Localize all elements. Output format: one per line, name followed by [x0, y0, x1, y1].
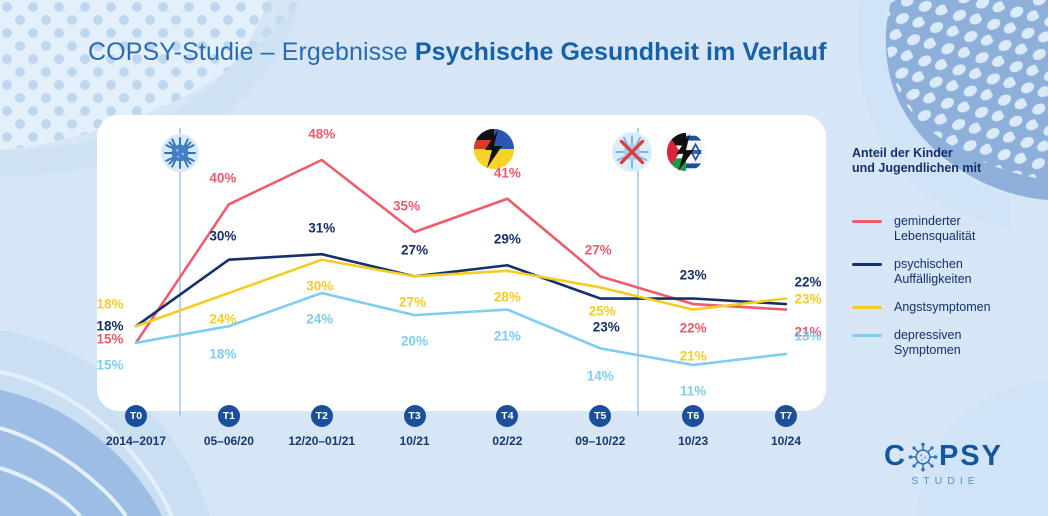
x-axis-marker-t0[interactable]: T0: [125, 405, 147, 427]
x-axis-label-t0: 2014–2017: [106, 434, 166, 448]
page-title-light: COPSY-Studie – Ergebnisse: [88, 38, 415, 66]
legend-label-line1: geminderter: [894, 214, 975, 229]
data-label-blue-T1: 18%: [209, 347, 236, 362]
data-label-navy-T3: 27%: [401, 243, 428, 258]
logo-subtitle: STUDIE: [888, 475, 1003, 487]
data-label-yellow-T0: 18%: [96, 297, 123, 312]
legend-label-line2: Symptomen: [894, 343, 961, 358]
data-label-navy-T5: 23%: [593, 319, 620, 334]
legend-items: geminderterLebensqualitätpsychischenAuff…: [852, 214, 1032, 358]
chart-legend: Anteil der Kinder und Jugendlichen mit g…: [852, 146, 1032, 371]
data-label-yellow-T4: 28%: [494, 289, 521, 304]
data-label-yellow-T6: 21%: [680, 348, 707, 363]
pandemic-end-icon: [611, 131, 653, 173]
data-label-navy-T4: 29%: [494, 232, 521, 247]
legend-label-line1: psychischen: [894, 257, 972, 272]
data-label-yellow-T2: 30%: [306, 278, 333, 293]
logo-virus-icon: [908, 442, 938, 472]
legend-label-line2: Lebensqualität: [894, 229, 975, 244]
legend-title: Anteil der Kinder und Jugendlichen mit: [852, 146, 1032, 176]
x-axis-label-t2: 12/20–01/21: [288, 434, 355, 448]
legend-item-3[interactable]: depressivenSymptomen: [852, 328, 1032, 358]
data-label-yellow-T7: 23%: [794, 291, 821, 306]
data-label-yellow-T3: 27%: [399, 295, 426, 310]
legend-title-line1: Anteil der Kinder: [852, 146, 1032, 161]
x-axis-marker-t3[interactable]: T3: [404, 405, 426, 427]
data-label-red-T1: 40%: [209, 171, 236, 186]
legend-title-line2: und Jugendlichen mit: [852, 161, 1032, 176]
x-axis-label-t5: 09–10/22: [575, 434, 625, 448]
data-label-yellow-T5: 25%: [589, 304, 616, 319]
x-axis-marker-t2[interactable]: T2: [311, 405, 333, 427]
data-label-red-T6: 22%: [680, 321, 707, 336]
page-title: COPSY-Studie – Ergebnisse Psychische Ges…: [88, 38, 827, 67]
legend-swatch-1: [852, 263, 882, 266]
x-axis-label-t6: 10/23: [678, 434, 708, 448]
legend-label-line1: Angstsymptomen: [894, 300, 991, 315]
legend-swatch-2: [852, 306, 882, 309]
data-label-navy-T2: 31%: [308, 221, 335, 236]
chart-card: [97, 115, 826, 411]
x-axis-label-t3: 10/21: [400, 434, 430, 448]
legend-item-2[interactable]: Angstsymptomen: [852, 300, 1032, 315]
legend-label-0: geminderterLebensqualität: [894, 214, 975, 244]
data-label-blue-T6: 11%: [680, 384, 706, 399]
x-axis-label-t4: 02/22: [492, 434, 522, 448]
data-label-navy-T0: 18%: [96, 319, 123, 334]
legend-swatch-0: [852, 220, 882, 223]
data-label-blue-T7: 13%: [794, 328, 821, 343]
data-label-blue-T4: 21%: [494, 328, 521, 343]
data-label-blue-T2: 24%: [306, 311, 333, 326]
data-label-blue-T5: 14%: [587, 369, 614, 384]
data-label-red-T3: 35%: [393, 199, 420, 214]
legend-label-3: depressivenSymptomen: [894, 328, 961, 358]
copsy-wordmark: C PSY: [884, 440, 1003, 473]
x-axis-marker-t7[interactable]: T7: [775, 405, 797, 427]
legend-swatch-3: [852, 334, 882, 337]
x-axis-label-t1: 05–06/20: [204, 434, 254, 448]
data-label-navy-T7: 22%: [794, 275, 821, 290]
data-label-navy-T1: 30%: [209, 228, 236, 243]
data-label-blue-T0: 15%: [96, 357, 123, 372]
data-label-red-T2: 48%: [308, 127, 335, 142]
legend-label-line2: Auffälligkeiten: [894, 272, 972, 287]
legend-item-1[interactable]: psychischenAuffälligkeiten: [852, 257, 1032, 287]
page-title-bold: Psychische Gesundheit im Verlauf: [415, 38, 827, 66]
israel-palestine-icon: [665, 131, 707, 173]
x-axis-marker-t1[interactable]: T1: [218, 405, 240, 427]
legend-item-0[interactable]: geminderterLebensqualität: [852, 214, 1032, 244]
data-label-red-T4: 41%: [494, 165, 521, 180]
virus-icon: [160, 133, 200, 173]
legend-label-line1: depressiven: [894, 328, 961, 343]
data-label-red-T5: 27%: [585, 243, 612, 258]
data-label-blue-T3: 20%: [401, 334, 428, 349]
logo-letters-psy: PSY: [939, 440, 1003, 473]
copsy-logo: C PSY STUDIE: [884, 440, 1003, 487]
logo-letter-c: C: [884, 440, 907, 473]
x-axis-marker-t6[interactable]: T6: [682, 405, 704, 427]
legend-label-2: Angstsymptomen: [894, 300, 991, 315]
x-axis-label-t7: 10/24: [771, 434, 801, 448]
legend-label-1: psychischenAuffälligkeiten: [894, 257, 972, 287]
data-label-yellow-T1: 24%: [209, 311, 236, 326]
data-label-navy-T6: 23%: [680, 267, 707, 282]
